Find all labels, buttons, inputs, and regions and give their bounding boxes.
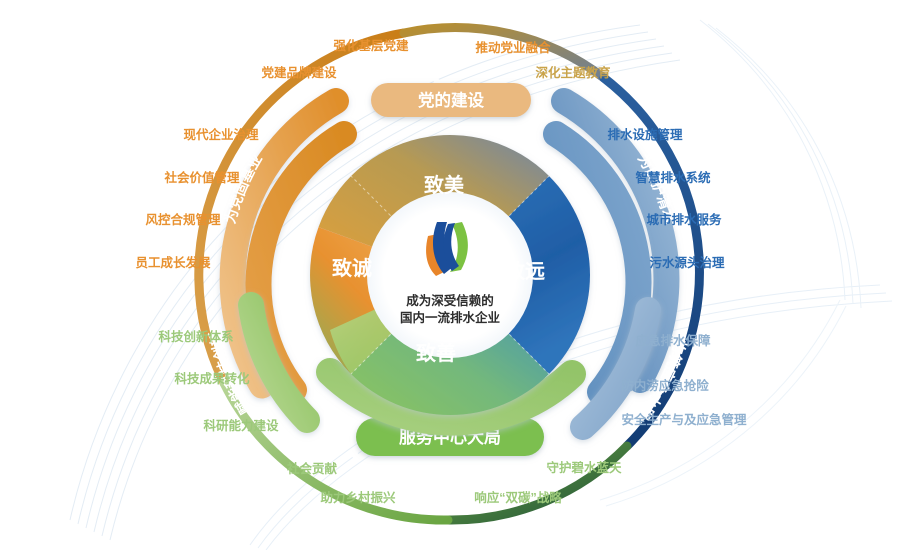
infographic-stage: 党的建设 服务中心大局 为穗添光彩 [0, 0, 900, 550]
arc-band-enable-tech-innovation [251, 305, 307, 420]
outer-label-1: 推动党业融合 [475, 40, 551, 55]
outer-label-6: 社会价值管理 [163, 170, 240, 185]
outer-label-8: 风控合规管理 [145, 212, 221, 227]
outer-label-13: 应急排水保障 [635, 333, 711, 348]
outer-label-11: 污水源头治理 [649, 255, 725, 270]
outer-label-17: 安全生产与及应急管理 [621, 412, 747, 427]
outer-label-9: 城市排水服务 [646, 212, 722, 227]
outer-label-4: 现代企业治理 [183, 127, 259, 142]
arc-band-green-left [251, 305, 307, 420]
strategy-wheel-diagram: 党的建设 服务中心大局 为穗添光彩 [0, 0, 900, 550]
core-value-zhimei: 致美 [424, 173, 465, 197]
outer-label-3: 深化主题教育 [535, 65, 611, 80]
outer-label-20: 助力乡村振兴 [320, 490, 396, 505]
outer-label-0: 强化基层党建 [333, 38, 409, 53]
outer-label-5: 排水设施管理 [607, 127, 683, 142]
vision-line-2: 国内一流排水企业 [400, 310, 501, 325]
core-value-zhicheng: 致诚 [332, 256, 372, 280]
outer-label-10: 员工成长发展 [135, 255, 211, 270]
outer-label-19: 守护碧水蓝天 [546, 460, 622, 475]
outer-label-18: 社会贡献 [286, 461, 338, 476]
outer-label-21: 响应“双碳”战略 [474, 490, 562, 505]
pill-top[interactable]: 党的建设 [371, 83, 531, 117]
vision-line-1: 成为深受信赖的 [406, 293, 494, 308]
outer-label-14: 科技成果转化 [174, 371, 250, 386]
outer-label-2: 党建品牌建设 [261, 65, 337, 80]
outer-label-7: 智慧排水系统 [634, 170, 711, 185]
core-value-zhiyuan: 致远 [505, 259, 545, 283]
outer-label-15: 防内涝应急抢险 [621, 378, 709, 393]
outer-label-12: 科技创新体系 [158, 329, 234, 344]
core-value-zhishan: 致善 [416, 341, 456, 365]
outer-label-16: 科研能力建设 [203, 418, 279, 433]
pill-top-label: 党的建设 [418, 90, 485, 110]
